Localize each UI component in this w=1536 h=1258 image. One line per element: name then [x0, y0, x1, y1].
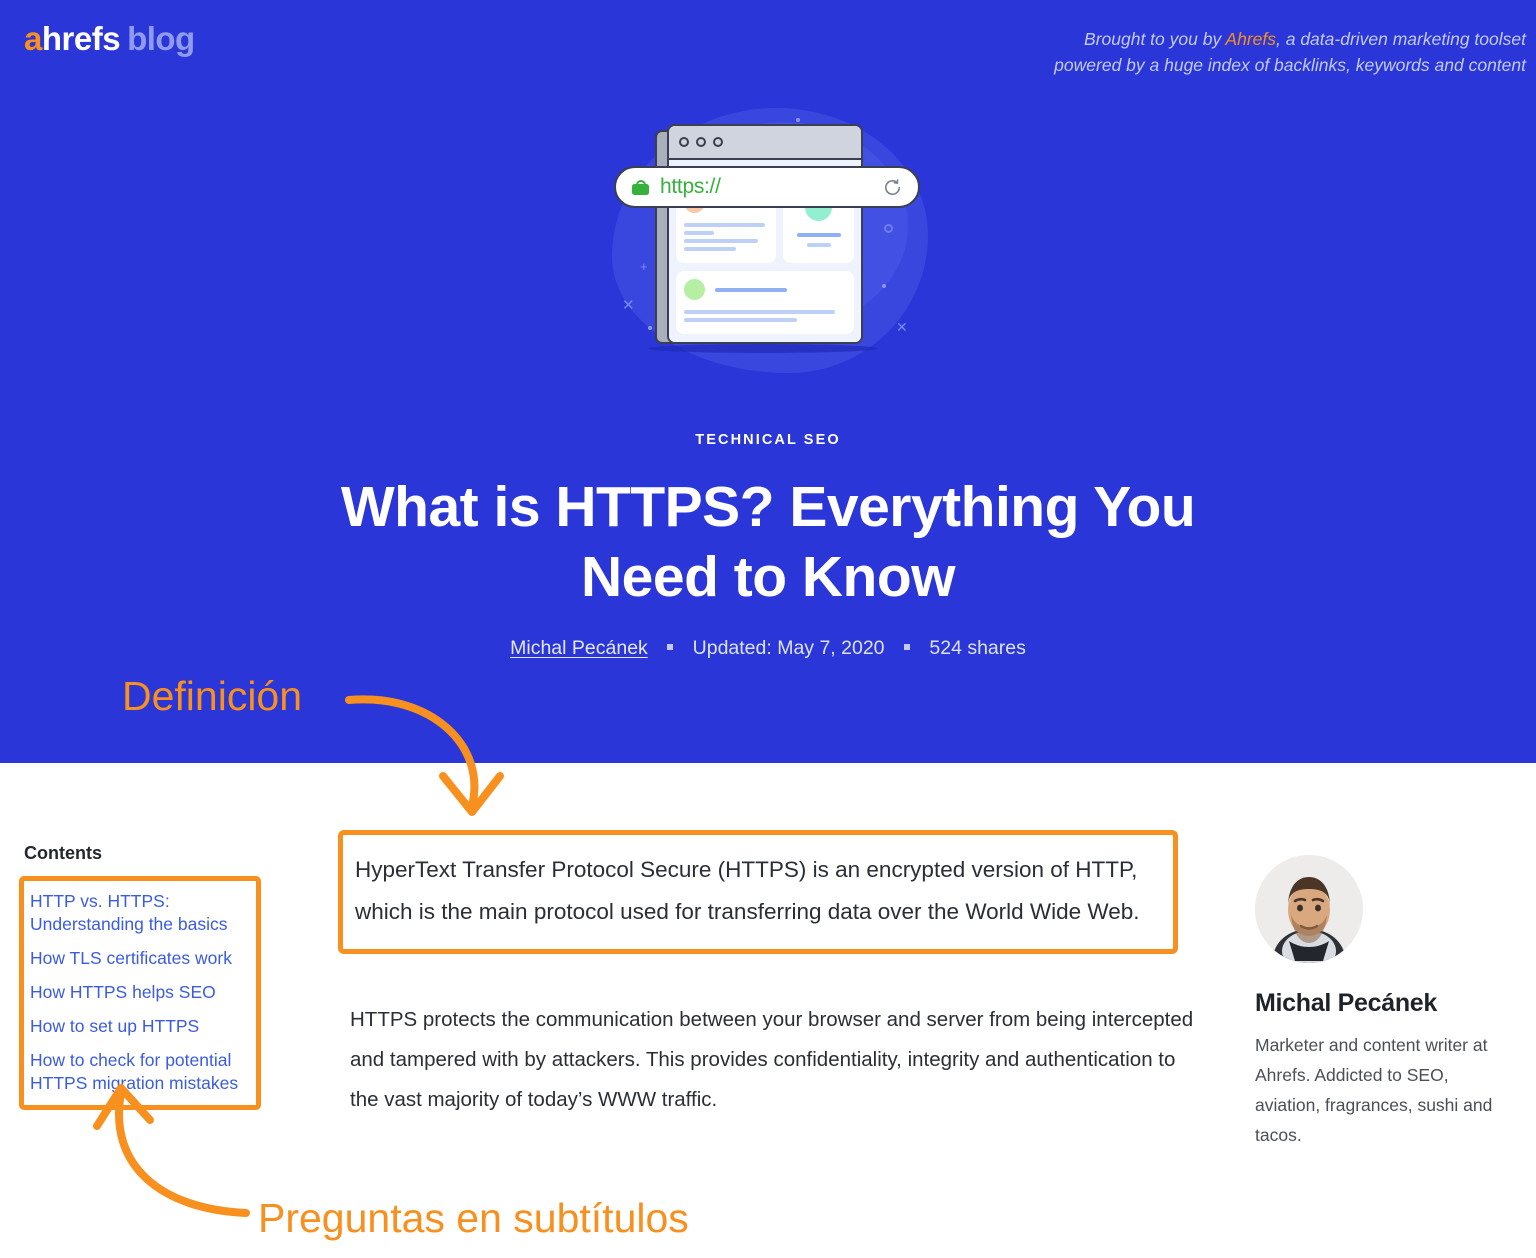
logo-main-text: hrefs — [42, 20, 120, 57]
window-dot-icon — [713, 137, 723, 147]
sparkle-dot-icon — [648, 326, 652, 330]
sidebar-item-set-up-https[interactable]: How to set up HTTPS — [30, 1015, 250, 1038]
byline-separator — [904, 644, 910, 650]
sparkle-x-icon: ✕ — [896, 320, 908, 334]
definition-text: HyperText Transfer Protocol Secure (HTTP… — [355, 849, 1161, 933]
browser-titlebar — [669, 126, 861, 160]
url-text: https:// — [660, 175, 721, 199]
browser-mockup — [655, 124, 863, 346]
tagline-brand-link[interactable]: Ahrefs — [1225, 29, 1276, 49]
window-dot-icon — [696, 137, 706, 147]
sidebar-item-http-vs-https[interactable]: HTTP vs. HTTPS: Understanding the basics — [30, 890, 250, 936]
table-of-contents: HTTP vs. HTTPS: Understanding the basics… — [19, 876, 261, 1110]
sidebar-item-https-seo[interactable]: How HTTPS helps SEO — [30, 981, 250, 1004]
body-paragraph: HTTPS protects the communication between… — [350, 1000, 1195, 1120]
tagline-line2: powered by a huge index of backlinks, ke… — [1054, 55, 1526, 75]
page-title: What is HTTPS? Everything You Need to Kn… — [268, 472, 1268, 612]
site-logo[interactable]: ahrefsblog — [24, 22, 195, 55]
article-category[interactable]: TECHNICAL SEO — [0, 432, 1536, 448]
padlock-icon — [632, 180, 649, 195]
sparkle-plus-icon: + — [640, 260, 648, 273]
hero-section: ahrefsblog Brought to you by Ahrefs, a d… — [0, 0, 1536, 763]
hero-illustration: + + ✕ ✕ ✕ — [600, 108, 940, 398]
sparkle-x-icon: ✕ — [622, 298, 635, 313]
logo-accent-letter: a — [24, 20, 42, 57]
placeholder-line — [684, 239, 758, 243]
author-name: Michal Pecánek — [1255, 989, 1505, 1018]
placeholder-line — [797, 233, 841, 237]
annotation-subheadings-label: Preguntas en subtítulos — [258, 1198, 689, 1239]
definition-arrow-head — [443, 776, 500, 812]
placeholder-line — [684, 223, 765, 227]
subheadings-arrow-curve — [119, 1093, 246, 1213]
tagline-line1-after: , a data-driven marketing toolset — [1276, 29, 1526, 49]
content-card — [676, 271, 854, 334]
browser-window — [667, 124, 863, 344]
updated-date: Updated: May 7, 2020 — [693, 637, 885, 659]
header-tagline: Brought to you by Ahrefs, a data-driven … — [966, 26, 1526, 78]
sidebar-item-tls-certificates[interactable]: How TLS certificates work — [30, 947, 250, 970]
tagline-line1-before: Brought to you by — [1084, 29, 1225, 49]
author-card: Michal Pecánek Marketer and content writ… — [1255, 855, 1505, 1150]
placeholder-line — [715, 288, 787, 292]
placeholder-line — [684, 318, 797, 322]
avatar — [1255, 855, 1363, 963]
definition-callout: HyperText Transfer Protocol Secure (HTTP… — [338, 830, 1178, 954]
author-bio: Marketer and content writer at Ahrefs. A… — [1255, 1030, 1503, 1150]
logo-secondary-text: blog — [127, 20, 195, 57]
article-byline: Michal Pecánek Updated: May 7, 2020 524 … — [0, 637, 1536, 660]
browser-url-bar[interactable]: https:// — [614, 166, 920, 208]
placeholder-line — [684, 310, 835, 314]
window-dot-icon — [679, 137, 689, 147]
sparkle-ring-icon — [884, 224, 893, 233]
page-root: ahrefsblog Brought to you by Ahrefs, a d… — [0, 0, 1536, 1258]
author-link[interactable]: Michal Pecánek — [510, 637, 648, 659]
placeholder-line — [807, 243, 831, 247]
sparkle-dot-icon — [796, 118, 800, 122]
sparkle-dot-icon — [882, 284, 886, 288]
share-count: 524 shares — [929, 637, 1025, 659]
placeholder-line — [684, 231, 714, 235]
placeholder-line — [684, 247, 736, 251]
byline-separator — [667, 644, 673, 650]
card-avatar-circle — [684, 279, 705, 300]
reload-icon[interactable] — [883, 178, 902, 197]
sidebar-item-migration-mistakes[interactable]: How to check for potential HTTPS migrati… — [30, 1049, 250, 1095]
contents-heading: Contents — [24, 843, 102, 864]
